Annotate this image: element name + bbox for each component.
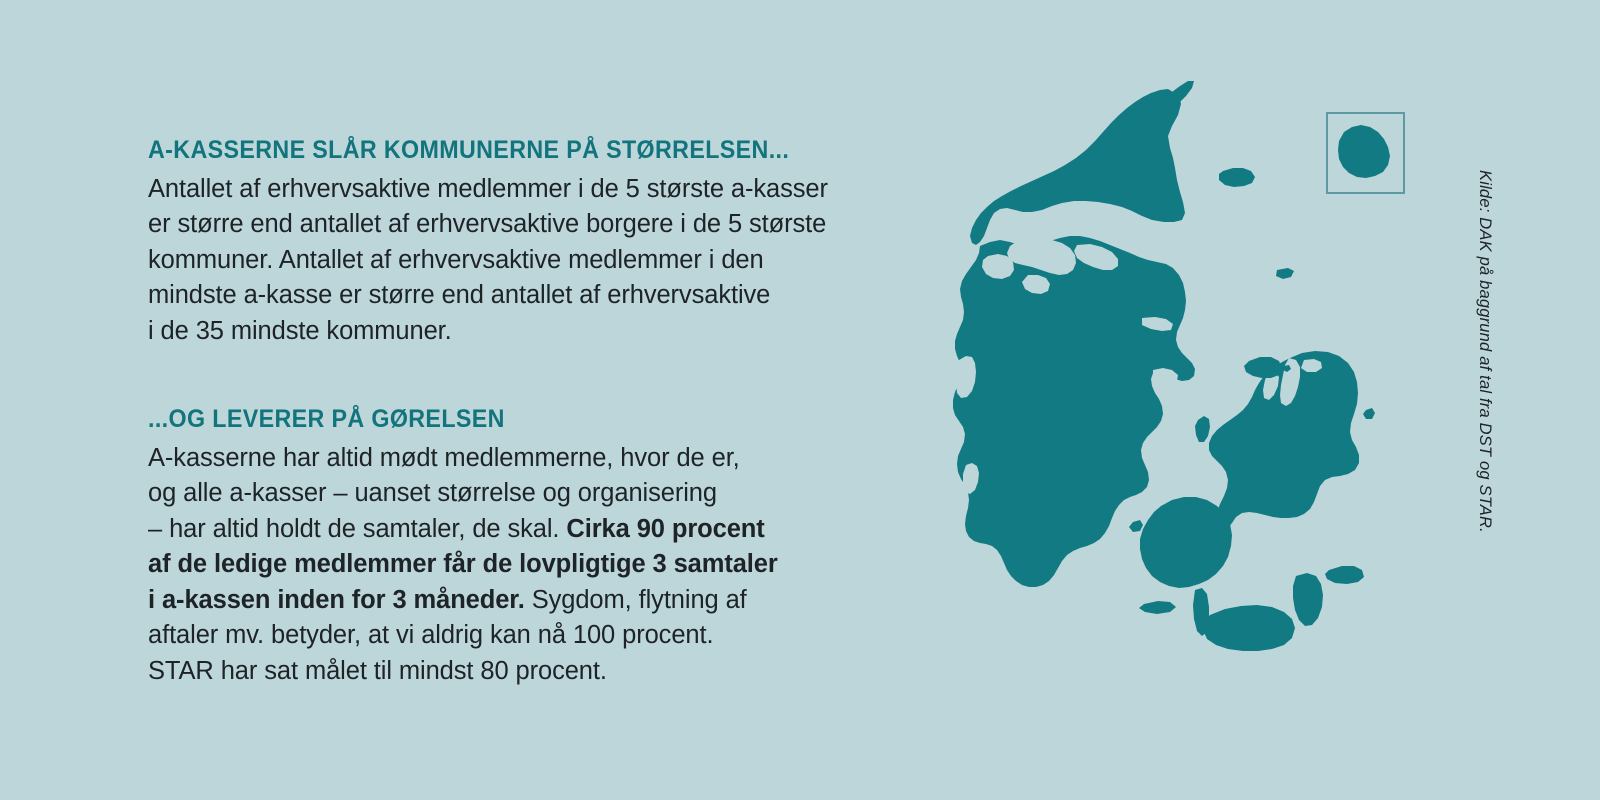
section-size-heading: A-KASSERNE SLÅR KOMMUNERNE PÅ STØRRELSEN… xyxy=(148,136,864,166)
map-region-skagen-tip xyxy=(1171,81,1194,108)
map-island-fyn-west-a xyxy=(1129,520,1143,532)
body-line: er større end antallet af erhvervsaktive… xyxy=(148,207,918,243)
map-island-bornholm xyxy=(1338,125,1390,178)
body-line: Antallet af erhvervsaktive medlemmer i d… xyxy=(148,172,918,208)
map-region-odsherred xyxy=(1244,357,1282,378)
body-text-plain: – har altid holdt de samtaler, de skal. xyxy=(148,515,566,543)
highlight-phrase-2: af de ledige medlemmer får de lovpligtig… xyxy=(148,550,778,578)
body-line-bold: af de ledige medlemmer får de lovpligtig… xyxy=(148,547,918,583)
section-size-body: Antallet af erhvervsaktive medlemmer i d… xyxy=(148,172,918,350)
map-island-anholt xyxy=(1276,268,1294,279)
body-line-mixed: – har altid holdt de samtaler, de skal. … xyxy=(148,512,918,548)
body-line: aftaler mv. betyder, at vi aldrig kan nå… xyxy=(148,618,918,654)
highlight-phrase-1: Cirka 90 procent xyxy=(566,515,764,543)
body-line: mindste a-kasse er større end antallet a… xyxy=(148,278,918,314)
highlight-phrase-3: i a-kassen inden for 3 måneder. xyxy=(148,586,525,614)
body-text-plain: Sygdom, flytning af xyxy=(525,586,747,614)
map-island-mon xyxy=(1325,566,1364,584)
section-delivery: ...OG LEVERER PÅ GØRELSEN A-kasserne har… xyxy=(148,405,918,689)
body-line: kommuner. Antallet af erhvervsaktive med… xyxy=(148,243,918,279)
denmark-map xyxy=(880,70,1480,720)
body-line: i de 35 mindste kommuner. xyxy=(148,314,918,350)
body-line: STAR har sat målet til mindst 80 procent… xyxy=(148,654,918,690)
section-delivery-heading: ...OG LEVERER PÅ GØRELSEN xyxy=(148,405,864,435)
infographic-canvas: A-KASSERNE SLÅR KOMMUNERNE PÅ STØRRELSEN… xyxy=(0,0,1600,800)
body-line-mixed: i a-kassen inden for 3 måneder. Sygdom, … xyxy=(148,583,918,619)
map-island-falster xyxy=(1293,573,1323,626)
body-line: A-kasserne har altid mødt medlemmerne, h… xyxy=(148,441,918,477)
map-island-samso xyxy=(1195,416,1210,442)
section-spacer xyxy=(148,349,918,405)
section-delivery-body: A-kasserne har altid mødt medlemmerne, h… xyxy=(148,441,918,690)
body-line: og alle a-kasser – uanset størrelse og o… xyxy=(148,476,918,512)
denmark-map-svg xyxy=(880,70,1480,720)
map-region-nordjylland xyxy=(970,89,1185,245)
map-island-aero xyxy=(1139,601,1176,614)
section-size: A-KASSERNE SLÅR KOMMUNERNE PÅ STØRRELSEN… xyxy=(148,136,918,349)
map-island-lolland xyxy=(1203,605,1295,651)
map-island-east-dot xyxy=(1363,408,1375,419)
text-column: A-KASSERNE SLÅR KOMMUNERNE PÅ STØRRELSEN… xyxy=(148,136,918,689)
map-island-laeso xyxy=(1219,168,1255,187)
